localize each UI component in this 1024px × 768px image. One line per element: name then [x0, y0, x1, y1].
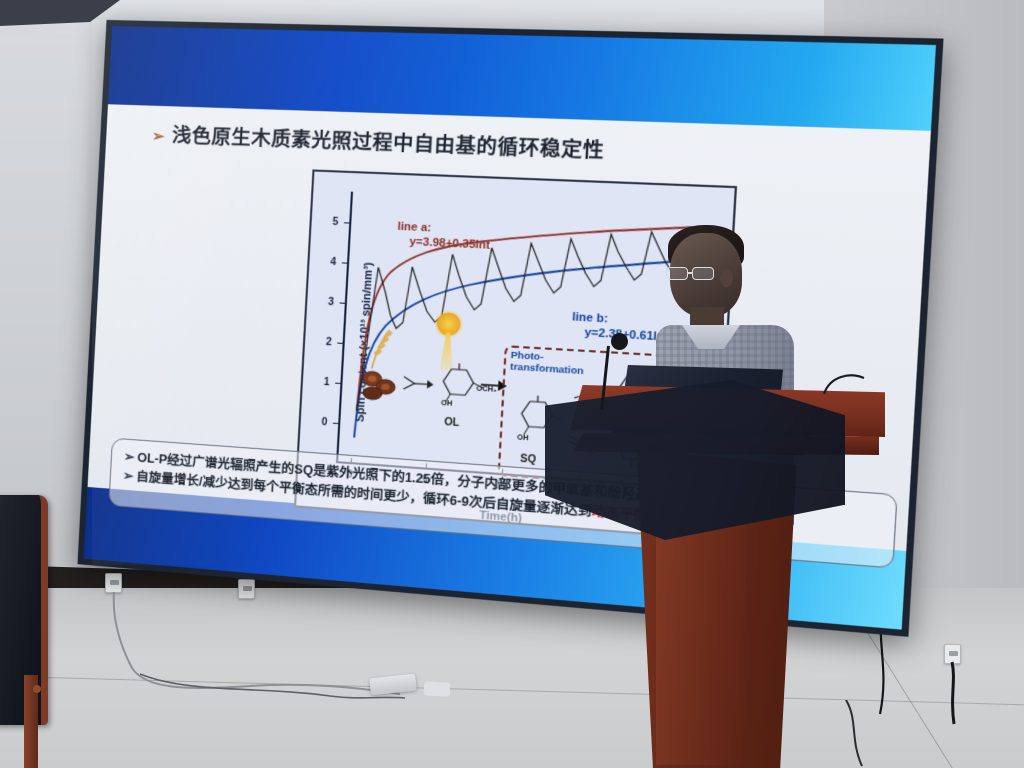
microphone-secondary [822, 370, 862, 396]
chair-stud [33, 685, 41, 693]
ol-molecule-icon [429, 362, 497, 429]
chart-y-ticklabel-4: 4 [330, 257, 336, 269]
bullet-arrow-icon: ➢ [152, 127, 166, 146]
conclusion-bullet-2-icon: ➢ [122, 469, 133, 484]
glasses-lens-left [666, 267, 688, 280]
conclusion-line-2-number: 6-9 [449, 494, 469, 510]
wheat-icon [368, 327, 398, 372]
chart-y-ticklabel-1: 1 [323, 377, 329, 389]
wood-logs-icon [358, 368, 400, 404]
arrow-wheat-to-ol-icon [401, 372, 436, 395]
chart-y-ticklabel-5: 5 [332, 217, 338, 229]
conclusion-line-1-number: 1.25 [404, 470, 431, 486]
chart-y-ticklabel-3: 3 [328, 297, 334, 309]
annotation-line-a: line a: y=3.98+0.35lnt [396, 221, 491, 254]
conference-room: ➢浅色原生木质素光照过程中自由基的循环稳定性 Spin content (×10… [0, 0, 1024, 768]
microphone-head-icon[interactable] [611, 333, 628, 350]
chart-y-ticklabel-0: 0 [321, 417, 327, 429]
presenter-glasses-icon [666, 267, 720, 281]
chair[interactable] [0, 495, 58, 768]
chart-y-ticklabel-2: 2 [326, 337, 332, 349]
sq-label: SQ [520, 453, 536, 466]
sq-oh-label: OH [517, 434, 529, 442]
glasses-lens-right [692, 267, 714, 280]
ol-oh-label: OH [441, 400, 453, 408]
ol-label: OL [444, 417, 460, 429]
plug-block [424, 681, 451, 696]
presenter-ear [720, 269, 733, 287]
conclusion-bullet-1-icon: ➢ [124, 450, 135, 465]
